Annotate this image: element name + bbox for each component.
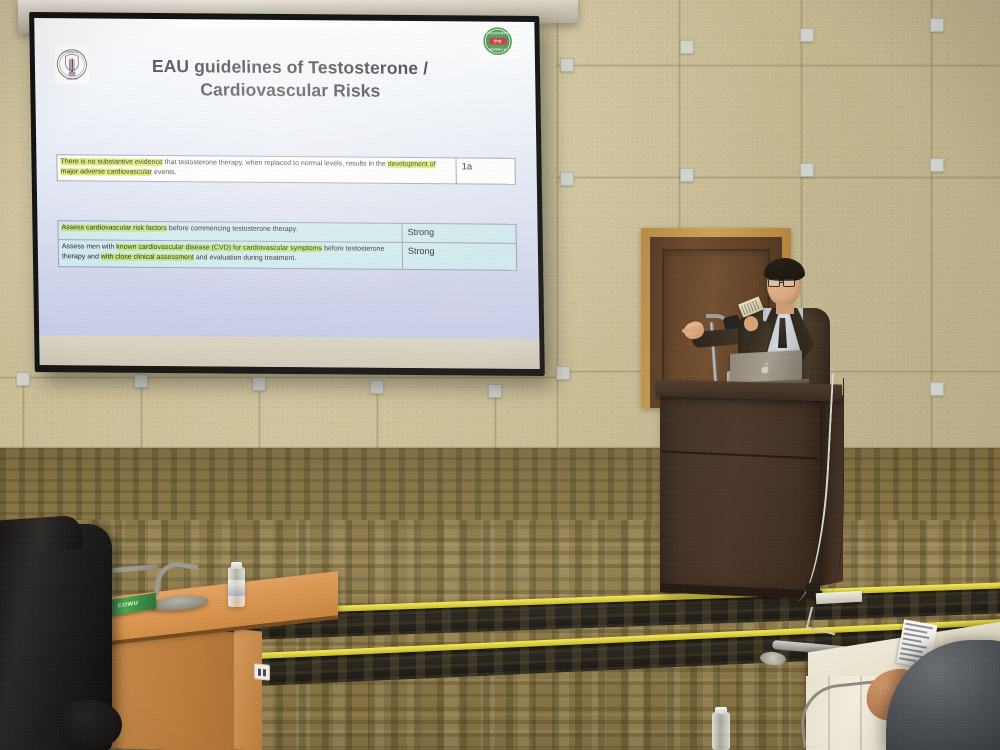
svg-text:UROLOGY: UROLOGY (66, 78, 78, 81)
black-cable (818, 378, 844, 592)
power-outlet-plate[interactable] (254, 663, 270, 681)
slide-title-line-1: EAU guidelines of Testosterone / (105, 55, 475, 81)
host-society-logo: 学会 台灣泌尿科醫學會 男性醫學分會 (474, 24, 521, 58)
eyeglasses-right-lens (783, 279, 795, 287)
text-segment-4: events. (152, 169, 177, 176)
screenshot-root: EUROPEAN UROLOGY 学会 台灣泌尿科醫學會 (0, 0, 1000, 750)
projection-screen[interactable]: EUROPEAN UROLOGY 学会 台灣泌尿科醫學會 (29, 12, 545, 376)
upper-floor-texture (0, 448, 1000, 526)
eau-logo: EUROPEAN UROLOGY (55, 44, 90, 84)
text-segment-0: Assess cardiovascular risk factors (61, 224, 167, 232)
text-segment-2: the (376, 161, 388, 168)
speaker-hair (764, 258, 805, 281)
office-chair-base (58, 700, 122, 750)
recommendation-cell-2: Assess men with known cardiovascular dis… (58, 240, 403, 269)
evidence-grade-cell: 1a (456, 158, 515, 185)
assessment-recommendations-table: Assess cardiovascular risk factors befor… (57, 220, 517, 270)
text-segment-4: and evaluation during treatment. (194, 255, 296, 263)
desk-water-bottle-label (228, 580, 245, 596)
text-segment-1: that testosterone therapy, when replaced… (163, 159, 376, 168)
desk-nameplate-text: COWU (118, 601, 139, 610)
screen-unprojected-strip (39, 335, 540, 369)
slide-title: EAU guidelines of Testosterone / Cardiov… (105, 55, 476, 103)
text-segment-3: with close clinical assessment (101, 254, 194, 262)
eyeglasses-bridge (780, 282, 784, 283)
table-row: There is no substantive evidence that te… (57, 155, 516, 185)
evidence-statement-cell: There is no substantive evidence that te… (57, 155, 457, 185)
office-chair-headrest (0, 515, 83, 556)
text-segment-1: before commencing testosterone therapy. (167, 225, 298, 233)
slide-title-line-2: Cardiovascular Risks (105, 77, 475, 103)
floor-water-bottle-cap (715, 707, 727, 714)
text-segment-1: known cardiovascular disease (CVD) for c… (116, 244, 322, 253)
apple-logo-icon (762, 362, 771, 373)
svg-text:男性醫學分會: 男性醫學分會 (489, 47, 506, 51)
eyeglasses-left-lens (768, 279, 780, 287)
desk-water-bottle-cap (231, 562, 242, 569)
evidence-statement-table: There is no substantive evidence that te… (56, 154, 516, 185)
text-segment-0: Assess men with (62, 243, 117, 250)
slide-content: EUROPEAN UROLOGY 学会 台灣泌尿科醫學會 (34, 18, 540, 369)
host-society-seal-icon: 学会 台灣泌尿科醫學會 男性醫學分會 (476, 25, 518, 56)
text-segment-0: There is no substantive evidence (60, 158, 162, 166)
floor-water-bottle (712, 712, 730, 750)
eau-seal-icon: EUROPEAN UROLOGY (56, 45, 89, 83)
desk-side-leg (234, 629, 262, 750)
table-row: Assess men with known cardiovascular dis… (58, 240, 517, 270)
svg-text:学会: 学会 (493, 37, 502, 44)
recommendation-strength-1: Strong (402, 223, 516, 243)
svg-text:EUROPEAN: EUROPEAN (65, 51, 79, 54)
recommendation-strength-2: Strong (402, 243, 516, 270)
assessment-table-body: Assess cardiovascular risk factors befor… (58, 221, 517, 270)
evidence-table-body: There is no substantive evidence that te… (57, 155, 516, 185)
svg-text:台灣泌尿科醫學會: 台灣泌尿科醫學會 (486, 31, 509, 35)
projected-slide: EUROPEAN UROLOGY 学会 台灣泌尿科醫學會 (34, 18, 540, 369)
projection-screen-frame: EUROPEAN UROLOGY 学会 台灣泌尿科醫學會 (29, 12, 545, 376)
